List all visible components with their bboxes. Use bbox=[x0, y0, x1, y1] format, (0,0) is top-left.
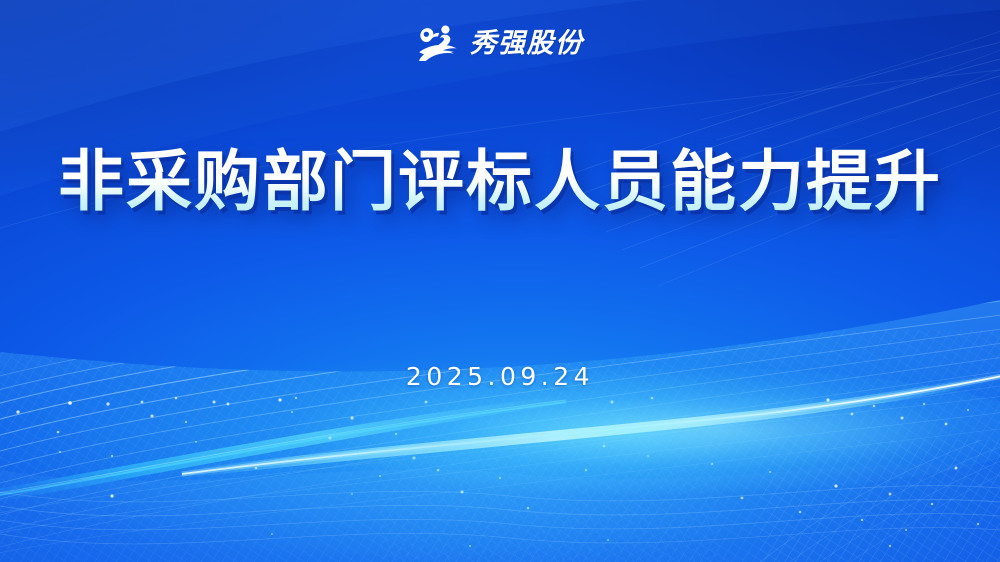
person-swoosh-logo-icon bbox=[417, 22, 463, 64]
slide-title-container: 非采购部门评标人员能力提升 bbox=[0, 146, 1000, 217]
company-logo: 秀强股份 bbox=[0, 20, 1000, 66]
slide-date-container: 2025.09.24 bbox=[0, 362, 1000, 391]
logo-company-name: 秀强股份 bbox=[470, 30, 584, 57]
slide-date: 2025.09.24 bbox=[406, 362, 594, 391]
background-decoration-svg bbox=[0, 0, 1000, 562]
slide-title: 非采购部门评标人员能力提升 bbox=[58, 146, 942, 217]
presentation-title-slide: 秀强股份 非采购部门评标人员能力提升 2025.09.24 bbox=[0, 0, 1000, 562]
